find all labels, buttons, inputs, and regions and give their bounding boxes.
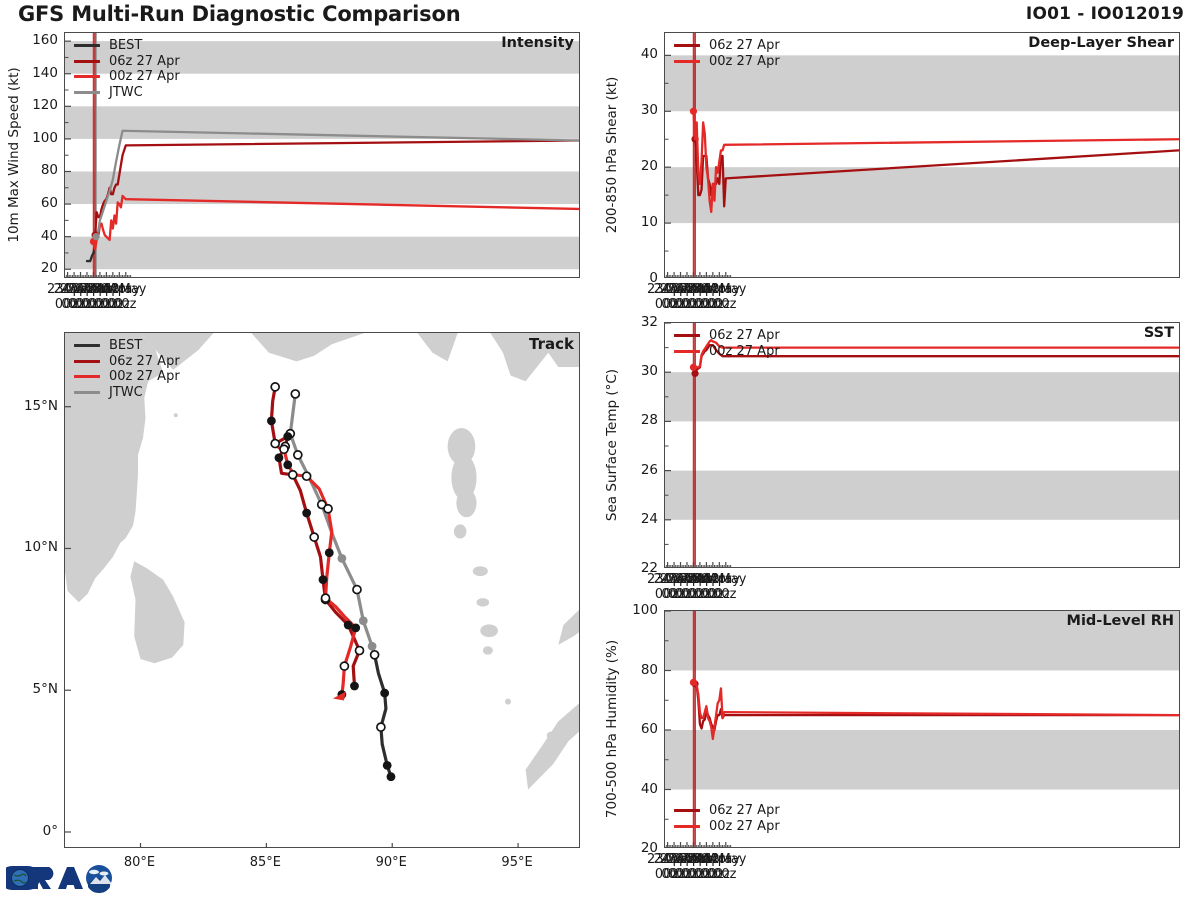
panel-title-shear: Deep-Layer Shear [1028,35,1174,51]
x-tick-label: 02May00z [703,283,746,312]
sri-lanka-landmass [130,561,184,663]
panel-mid-level-rh: Mid-Level RH 06z 27 Apr00z 27 Apr [664,610,1180,848]
track-line [279,448,356,695]
track-marker-open [294,451,302,459]
legend-entry: 06z 27 Apr [674,38,780,54]
legend-entry: 00z 27 Apr [674,54,780,70]
map-x-tick-label: 80°E [124,856,155,871]
legend-swatch [74,375,100,378]
y-tick-label: 100 [18,130,58,146]
legend-label: 06z 27 Apr [709,329,780,342]
y-tick-label: 10 [618,214,658,230]
legend-entry: 00z 27 Apr [674,344,780,360]
legend-entry: JTWC [74,85,180,101]
track-marker-open [271,383,279,391]
y-axis-title: 700-500 hPa Humidity (%) [604,640,620,818]
legend-label: BEST [109,39,142,52]
y-tick-label: 26 [618,462,658,478]
y-axis-title: 10m Max Wind Speed (kt) [6,67,22,242]
shaded-band [665,372,1180,421]
panel-intensity: Intensity BEST06z 27 Apr00z 27 AprJTWC [64,32,580,278]
series-start-marker [690,108,697,115]
panel-title-rh: Mid-Level RH [1067,613,1174,629]
legend-entry: 06z 27 Apr [674,803,780,819]
legend-label: 00z 27 Apr [109,70,180,83]
legend-label: 00z 27 Apr [709,345,780,358]
legend-entry: JTWC [74,385,180,401]
legend-swatch [674,350,700,353]
y-tick-label: 30 [618,102,658,118]
x-tick-label: 02May00z [103,283,146,312]
track-marker-open [303,472,311,480]
track-marker-open [324,505,332,513]
panel-title-sst: SST [1144,325,1174,341]
track-marker-filled [351,623,360,632]
northeast-coast-landmass [141,333,581,381]
y-tick-label: 80 [18,162,58,178]
track-marker-filled [283,432,292,441]
track-marker-filled [302,509,311,518]
series-start-marker [92,233,99,240]
legend-shear: 06z 27 Apr00z 27 Apr [674,38,780,69]
track-marker-open [291,390,299,398]
track-marker-filled [319,575,328,584]
legend-label: 06z 27 Apr [709,39,780,52]
y-axis-title: 200-850 hPa Shear (kt) [604,77,620,234]
map-x-tick-label: 85°E [250,856,281,871]
y-tick-label: 40 [618,46,658,62]
legend-label: JTWC [109,86,143,99]
legend-entry: 06z 27 Apr [674,328,780,344]
y-tick-label: 24 [618,511,658,527]
track-marker-filled [275,453,284,462]
track-marker-filled [359,616,368,625]
track-marker-filled [368,642,377,651]
track-marker-filled [325,548,334,557]
legend-track: BEST06z 27 Apr00z 27 AprJTWC [74,338,180,400]
y-tick-label: 60 [618,721,658,737]
legend-swatch [674,60,700,63]
track-marker-filled [380,689,389,698]
shaded-band [665,730,1180,790]
legend-label: 06z 27 Apr [709,804,780,817]
legend-swatch [74,44,100,47]
y-tick-label: 140 [18,65,58,81]
track-marker-open [340,662,348,670]
sumatra-landmass [526,702,580,790]
y-tick-label: 160 [18,32,58,48]
track-marker-open [280,445,288,453]
legend-swatch [74,391,100,394]
shaded-band [665,167,1180,223]
y-axis-title: Sea Surface Temp (°C) [604,369,620,521]
malay-peninsula-landmass [558,608,580,645]
track-marker-filled [337,554,346,563]
legend-label: 00z 27 Apr [109,370,180,383]
y-tick-label: 32 [618,314,658,330]
x-tick-label: 02May00z [703,573,746,602]
storm-id-label: IO01 - IO012019 [1026,4,1184,24]
y-tick-label: 60 [18,195,58,211]
legend-swatch [74,60,100,63]
island-speck [96,512,100,516]
legend-swatch [74,75,100,78]
track-marker-open [289,471,297,479]
track-marker-filled [344,621,353,630]
legend-intensity: BEST06z 27 Apr00z 27 AprJTWC [74,38,180,100]
panel-deep-layer-shear: Deep-Layer Shear 06z 27 Apr00z 27 Apr [664,32,1180,278]
legend-entry: 00z 27 Apr [74,369,180,385]
legend-sst: 06z 27 Apr00z 27 Apr [674,328,780,359]
map-y-tick-label: 0° [12,823,58,839]
y-tick-label: 28 [618,412,658,428]
island-speck [174,413,178,417]
andaman-nicobar-islands [456,489,476,517]
legend-label: BEST [109,339,142,352]
legend-swatch [674,809,700,812]
legend-swatch [74,344,100,347]
track-marker-open [371,651,379,659]
legend-entry: 00z 27 Apr [674,819,780,835]
track-marker-open [271,440,279,448]
y-tick-label: 80 [618,662,658,678]
legend-label: JTWC [109,386,143,399]
legend-entry: BEST [74,38,180,54]
series-line [695,684,1178,730]
map-y-tick-label: 10°N [12,539,58,555]
legend-label: 00z 27 Apr [709,820,780,833]
legend-label: 00z 27 Apr [709,55,780,68]
map-y-tick-label: 15°N [12,398,58,414]
x-tick-label: 02May00z [703,853,746,882]
panel-title-track: Track [529,335,574,353]
y-tick-label: 40 [18,228,58,244]
legend-entry: 06z 27 Apr [74,354,180,370]
legend-swatch [74,91,100,94]
cira-logo [6,858,114,898]
island-speck [505,699,511,705]
track-line [372,646,391,776]
track-marker-open [377,723,385,731]
track-marker-open [355,647,363,655]
panel-sst: SST 06z 27 Apr00z 27 Apr [664,322,1180,568]
track-marker-filled [283,460,292,469]
y-tick-label: 20 [18,260,58,276]
andaman-nicobar-islands [483,646,493,655]
y-tick-label: 100 [618,602,658,618]
track-marker-filled [350,682,359,691]
map-y-tick-label: 5°N [12,681,58,697]
shaded-band [665,471,1180,520]
track-marker-filled [383,761,392,770]
legend-entry: 00z 27 Apr [74,69,180,85]
legend-entry: BEST [74,338,180,354]
andaman-nicobar-islands [473,566,488,576]
legend-swatch [674,334,700,337]
series-start-marker [691,370,698,377]
map-x-tick-label: 95°E [501,856,532,871]
y-tick-label: 40 [618,781,658,797]
legend-swatch [74,360,100,363]
legend-swatch [674,44,700,47]
track-marker-filled [387,772,396,781]
legend-rh: 06z 27 Apr00z 27 Apr [674,803,780,834]
track-marker-filled [267,416,276,425]
map-x-tick-label: 90°E [376,856,407,871]
panel-track-map: Track BEST06z 27 Apr00z 27 AprJTWC [64,332,580,848]
series-start-marker [690,364,697,371]
andaman-nicobar-islands [454,524,467,538]
andaman-nicobar-islands [480,624,498,637]
y-tick-label: 30 [618,363,658,379]
y-tick-label: 20 [618,158,658,174]
y-tick-label: 120 [18,97,58,113]
legend-label: 06z 27 Apr [109,55,180,68]
panel-title-intensity: Intensity [501,35,574,51]
legend-label: 06z 27 Apr [109,355,180,368]
shaded-band [65,237,580,270]
page-title: GFS Multi-Run Diagnostic Comparison [18,2,460,26]
andaman-nicobar-islands [477,598,490,607]
series-start-marker [690,679,697,686]
legend-swatch [674,825,700,828]
track-marker-open [322,594,330,602]
track-marker-open [353,586,361,594]
track-marker-open [310,533,318,541]
legend-entry: 06z 27 Apr [74,54,180,70]
